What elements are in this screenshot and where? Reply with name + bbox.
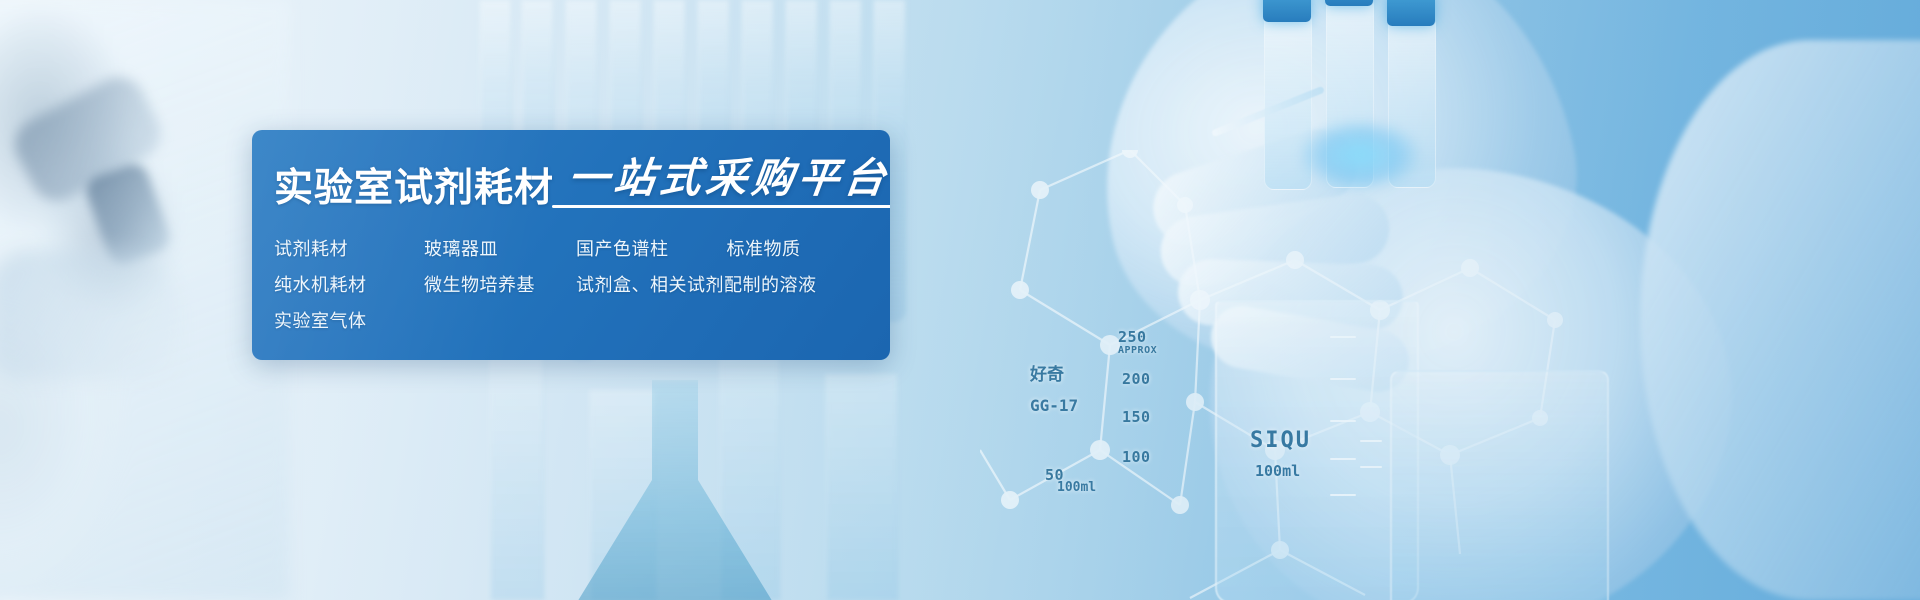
- headline: 实验室试剂耗材 一站式采购平台: [274, 158, 890, 208]
- headline-underline: [552, 205, 890, 208]
- category-item[interactable]: 标准物质: [727, 235, 801, 261]
- promo-card: 实验室试剂耗材 一站式采购平台 试剂耗材 玻璃器皿 国产色谱柱 标准物质 纯水机…: [252, 130, 890, 360]
- category-row: 试剂耗材 玻璃器皿 国产色谱柱 标准物质: [274, 230, 874, 266]
- headline-bold-text: 实验室试剂耗材: [274, 169, 554, 208]
- category-item[interactable]: 试剂盒、相关试剂配制的溶液: [576, 271, 817, 297]
- category-row: 实验室气体: [274, 302, 874, 338]
- headline-script-wrap: 一站式采购平台: [568, 158, 890, 208]
- category-item[interactable]: 纯水机耗材: [274, 271, 424, 297]
- category-item[interactable]: 试剂耗材: [274, 235, 424, 261]
- category-item[interactable]: 微生物培养基: [424, 271, 576, 297]
- category-list: 试剂耗材 玻璃器皿 国产色谱柱 标准物质 纯水机耗材 微生物培养基 试剂盒、相关…: [274, 230, 874, 338]
- category-row: 纯水机耗材 微生物培养基 试剂盒、相关试剂配制的溶液: [274, 266, 874, 302]
- headline-script-text: 一站式采购平台: [565, 158, 890, 199]
- category-item[interactable]: 实验室气体: [274, 307, 424, 333]
- category-item[interactable]: 玻璃器皿: [424, 235, 576, 261]
- category-item[interactable]: 国产色谱柱: [576, 235, 669, 261]
- lab-reagent-banner: 250 APPROX 200 150 100 50 好奇 GG-17 100ml…: [0, 0, 1920, 600]
